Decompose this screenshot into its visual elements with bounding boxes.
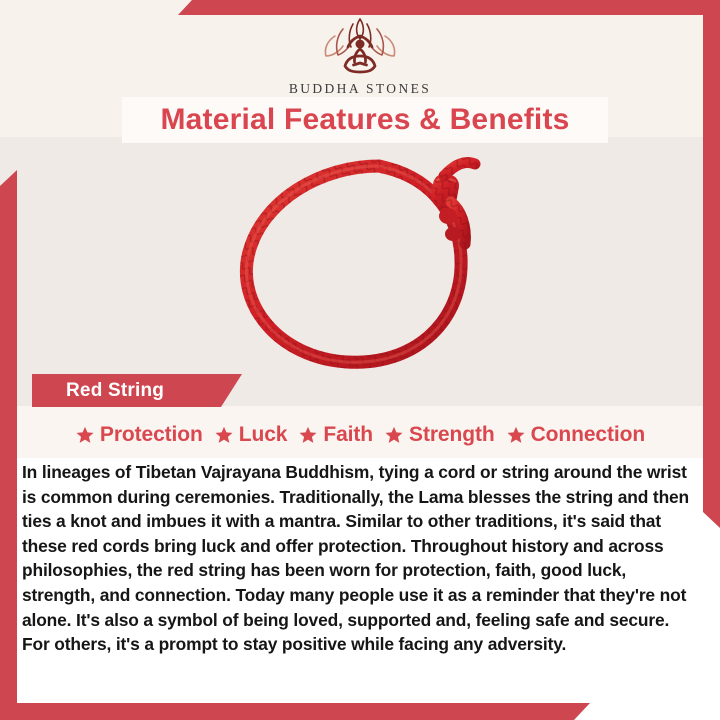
brand-name: BUDDHA STONES (289, 81, 431, 97)
frame-bar-top (178, 0, 720, 15)
frame-bar-bottom (0, 703, 590, 720)
benefit-label: Protection (100, 423, 203, 447)
benefit-item: Strength (384, 423, 495, 447)
star-icon (506, 425, 526, 445)
benefits-row: Protection Luck Faith Strength Connectio… (0, 418, 720, 452)
product-name-tag: Red String (32, 374, 242, 407)
star-icon (75, 425, 95, 445)
lotus-meditation-icon (304, 16, 416, 78)
description-paragraph: In lineages of Tibetan Vajrayana Buddhis… (22, 460, 694, 657)
infographic-page: BUDDHA STONES Material Features & Benefi… (0, 0, 720, 720)
benefit-item: Protection (75, 423, 203, 447)
star-icon (298, 425, 318, 445)
benefit-label: Faith (323, 423, 373, 447)
tag-label: Red String (32, 380, 164, 402)
page-title: Material Features & Benefits (160, 103, 569, 137)
benefit-item: Luck (214, 423, 288, 447)
benefit-item: Faith (298, 423, 373, 447)
benefit-item: Connection (506, 423, 646, 447)
benefit-label: Strength (409, 423, 495, 447)
benefit-label: Luck (239, 423, 288, 447)
brand-logo: BUDDHA STONES (0, 16, 720, 97)
star-icon (384, 425, 404, 445)
red-string-bracelet-photo (229, 152, 491, 374)
product-image (0, 140, 720, 386)
benefit-label: Connection (531, 423, 646, 447)
title-banner: Material Features & Benefits (122, 97, 608, 143)
star-icon (214, 425, 234, 445)
